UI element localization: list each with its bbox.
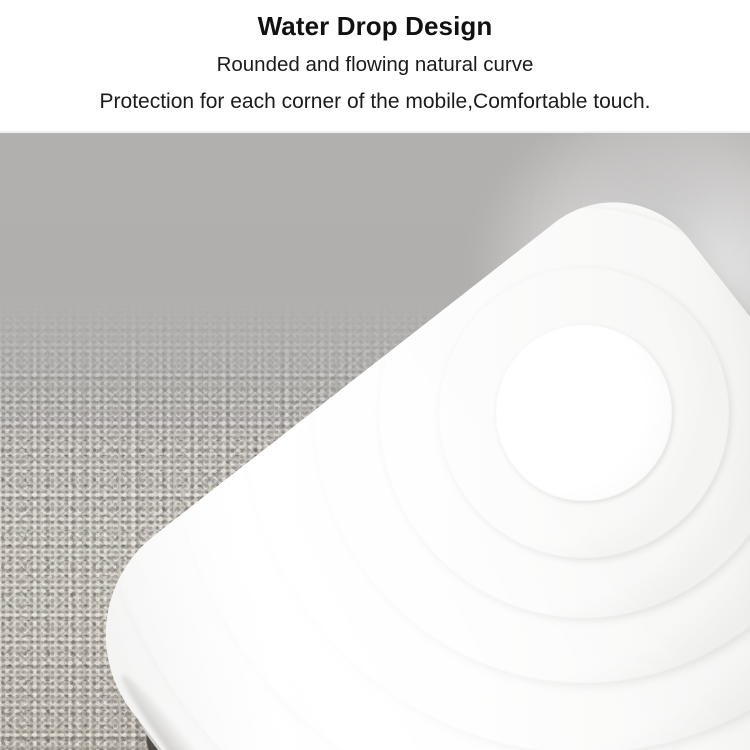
header-text-block: Water Drop Design Rounded and flowing na… xyxy=(0,0,750,133)
subtitle-secondary: Protection for each corner of the mobile… xyxy=(100,89,651,114)
product-photo xyxy=(0,133,750,750)
page-title: Water Drop Design xyxy=(258,11,493,42)
subtitle-primary: Rounded and flowing natural curve xyxy=(217,53,534,78)
product-feature-page: Water Drop Design Rounded and flowing na… xyxy=(0,0,750,750)
header-divider xyxy=(0,131,750,133)
